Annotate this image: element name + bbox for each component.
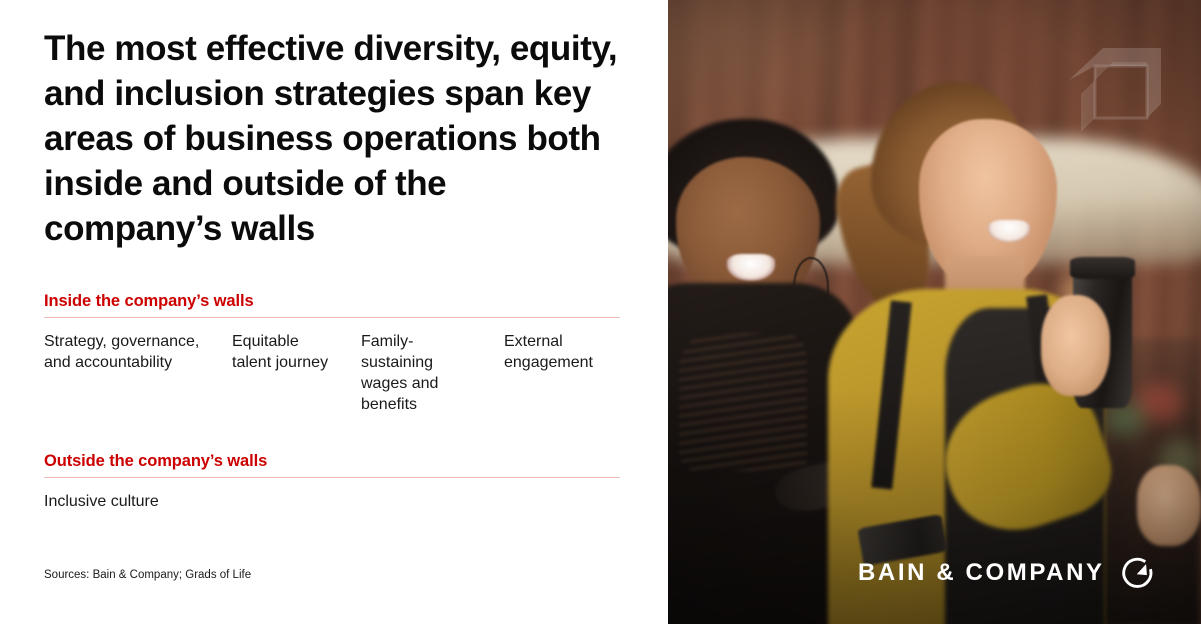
list-item: Equitable talent journey <box>232 331 342 373</box>
list-item: External engagement <box>504 331 629 373</box>
hero-photo: BAIN & COMPANY <box>668 0 1201 628</box>
sources-note: Sources: Bain & Company; Grads of Life <box>44 568 251 583</box>
section-title-outside: Outside the company’s walls <box>44 451 620 477</box>
photo-bottom-edge <box>668 624 1201 628</box>
bain-circle-mark-icon <box>1121 556 1155 590</box>
section-divider-inside <box>44 317 620 318</box>
inside-items-row: Strategy, governance, and accountability… <box>44 331 620 431</box>
page-title: The most effective diversity, equity, an… <box>44 26 624 251</box>
bain-wordmark: BAIN & COMPANY <box>858 561 1105 585</box>
section-outside-walls: Outside the company’s walls Inclusive cu… <box>44 451 620 512</box>
list-item: Strategy, governance, and accountability <box>44 331 214 373</box>
content-panel: The most effective diversity, equity, an… <box>0 0 668 628</box>
section-title-inside: Inside the company’s walls <box>44 291 620 317</box>
list-item: Family-sustaining wages and benefits <box>361 331 481 415</box>
bain-chevron-watermark-icon <box>1061 36 1169 140</box>
infographic-canvas: The most effective diversity, equity, an… <box>0 0 1201 628</box>
section-inside-walls: Inside the company’s walls Strategy, gov… <box>44 291 620 431</box>
section-divider-outside <box>44 477 620 478</box>
list-item: Inclusive culture <box>44 491 620 512</box>
bain-logo-lockup: BAIN & COMPANY <box>858 556 1155 590</box>
